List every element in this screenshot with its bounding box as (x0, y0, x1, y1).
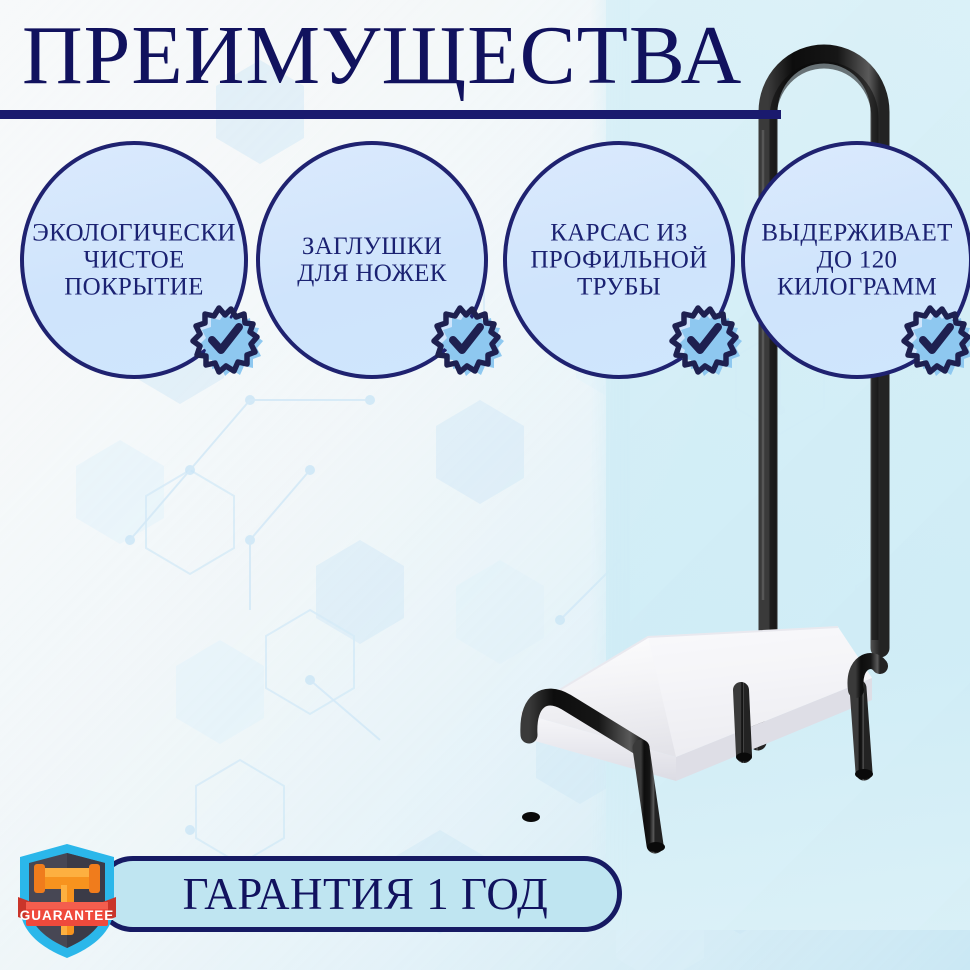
feature-label: ВЫДЕРЖИВАЕТ ДО 120 КИЛОГРАММ (723, 220, 970, 301)
check-badge-icon (187, 303, 267, 387)
feature-label: КАРСАС ИЗ ПРОФИЛЬНОЙ ТРУБЫ (485, 220, 753, 301)
check-badge-icon (428, 303, 508, 387)
check-badge-icon (898, 303, 970, 387)
page-title: ПРЕИМУЩЕСТВА (0, 14, 800, 98)
feature-label: ЭКОЛОГИЧЕСКИ ЧИСТОЕ ПОКРЫТИЕ (2, 220, 266, 301)
guarantee-ribbon-label: GUARANTEE (20, 908, 115, 923)
guarantee-shield-gavel-icon: GUARANTEE (14, 840, 120, 962)
page-title-block: ПРЕИМУЩЕСТВА (0, 14, 800, 98)
feature-label: ЗАГЛУШКИ ДЛЯ НОЖЕК (238, 233, 506, 287)
guarantee-banner[interactable]: ГАРАНТИЯ 1 ГОД (95, 856, 622, 932)
guarantee-banner-label: ГАРАНТИЯ 1 ГОД (100, 871, 617, 917)
product-photo-backdrop (606, 0, 970, 930)
check-badge-icon (666, 303, 746, 387)
infographic-canvas: ПРЕИМУЩЕСТВА ЭКОЛОГИЧЕСКИ ЧИСТОЕ ПОКРЫТИ… (0, 0, 970, 970)
title-underline-rule (0, 110, 781, 119)
